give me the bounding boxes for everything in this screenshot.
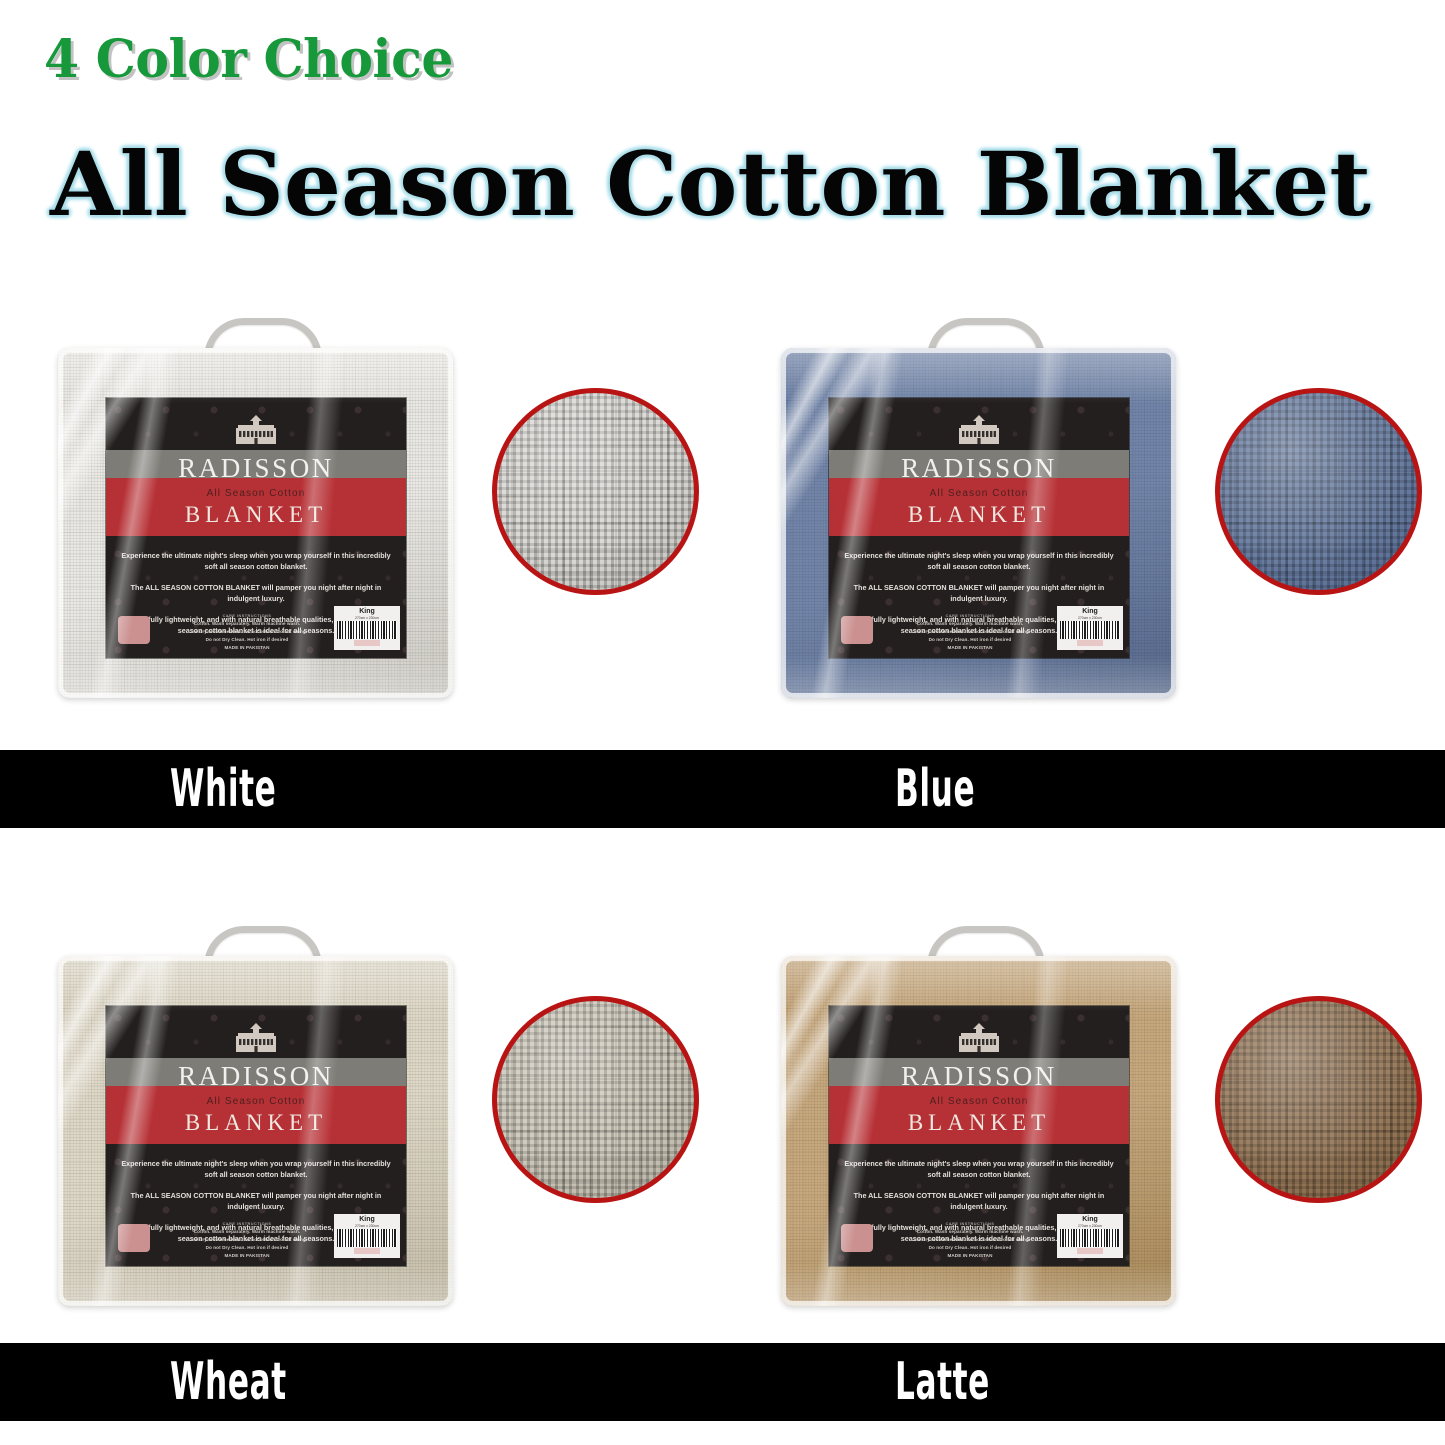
care-line: Line dry recommended. Do not bleach Do n… xyxy=(166,1236,328,1244)
label-subline: All Season Cotton xyxy=(106,1096,406,1107)
size-color-chip xyxy=(354,640,380,646)
hotel-crest-icon xyxy=(949,1022,1009,1054)
size-color-chip xyxy=(354,1248,380,1254)
care-line: Cotton. Wash separately. Warm machine wa… xyxy=(166,620,328,628)
package-white[interactable]: RADISSON All Season Cotton BLANKET Exper… xyxy=(58,318,453,698)
care-instructions: CARE INSTRUCTIONS Cotton. Wash separatel… xyxy=(889,613,1051,652)
product-word: BLANKET xyxy=(106,1110,406,1136)
color-chip xyxy=(841,1224,873,1252)
care-line: Do not Dry Clean. Hot iron if desired xyxy=(889,636,1051,644)
label-subline: All Season Cotton xyxy=(829,488,1129,499)
care-title: CARE INSTRUCTIONS xyxy=(166,613,328,620)
swatch-sheen xyxy=(1220,393,1417,590)
barcode-icon xyxy=(1060,621,1120,639)
label-copy-line: Experience the ultimate night's sleep wh… xyxy=(120,550,392,573)
caption-bar-row2: Wheat Latte xyxy=(0,1343,1445,1421)
label-subline: All Season Cotton xyxy=(829,1096,1129,1107)
swatch-sheen xyxy=(1220,1001,1417,1198)
product-label-card: RADISSON All Season Cotton BLANKET Exper… xyxy=(829,1006,1129,1266)
size-name: King xyxy=(1060,608,1120,616)
barcode-icon xyxy=(337,1229,397,1247)
hotel-crest-icon xyxy=(949,414,1009,446)
package-latte[interactable]: RADISSON All Season Cotton BLANKET Exper… xyxy=(781,926,1176,1306)
product-grid: RADISSON All Season Cotton BLANKET Exper… xyxy=(0,280,1445,1445)
care-line: MADE IN PAKISTAN xyxy=(166,644,328,652)
barcode-icon xyxy=(1060,1229,1120,1247)
fabric-swatch-wheat[interactable] xyxy=(492,996,699,1203)
care-instructions: CARE INSTRUCTIONS Cotton. Wash separatel… xyxy=(889,1221,1051,1260)
page-title: All Season Cotton Blanket xyxy=(50,140,1371,228)
package-blue[interactable]: RADISSON All Season Cotton BLANKET Exper… xyxy=(781,318,1176,698)
hotel-crest-icon xyxy=(226,414,286,446)
size-name: King xyxy=(337,608,397,616)
product-label-card: RADISSON All Season Cotton BLANKET Exper… xyxy=(106,1006,406,1266)
size-dims: 270cm x 230cm xyxy=(1060,1224,1120,1228)
brand-name: RADISSON xyxy=(829,450,1129,486)
size-badge: King 270cm x 230cm xyxy=(334,1214,400,1258)
label-copy-line: Experience the ultimate night's sleep wh… xyxy=(843,550,1115,573)
label-subline: All Season Cotton xyxy=(106,488,406,499)
product-cell-blue[interactable]: RADISSON All Season Cotton BLANKET Exper… xyxy=(723,280,1445,735)
caption-white: White xyxy=(170,750,276,828)
size-name: King xyxy=(1060,1216,1120,1224)
care-line: Line dry recommended. Do not bleach Do n… xyxy=(889,628,1051,636)
caption-latte: Latte xyxy=(895,1343,990,1421)
hotel-crest-icon xyxy=(226,1022,286,1054)
package-bag: RADISSON All Season Cotton BLANKET Exper… xyxy=(58,348,453,698)
product-cell-white[interactable]: RADISSON All Season Cotton BLANKET Exper… xyxy=(0,280,722,735)
care-line: Cotton. Wash separately. Warm machine wa… xyxy=(889,1228,1051,1236)
product-cell-latte[interactable]: RADISSON All Season Cotton BLANKET Exper… xyxy=(723,888,1445,1343)
kicker-text: 4 Color Choice xyxy=(44,29,453,90)
headline-section: 4 Color Choice All Season Cotton Blanket xyxy=(0,0,1445,280)
size-color-chip xyxy=(1077,640,1103,646)
fabric-swatch-latte[interactable] xyxy=(1215,996,1422,1203)
fabric-swatch-white[interactable] xyxy=(492,388,699,595)
color-chip xyxy=(118,616,150,644)
swatch-sheen xyxy=(497,393,694,590)
care-line: MADE IN PAKISTAN xyxy=(889,1252,1051,1260)
swatch-sheen xyxy=(497,1001,694,1198)
package-bag: RADISSON All Season Cotton BLANKET Exper… xyxy=(58,956,453,1306)
care-line: Do not Dry Clean. Hot iron if desired xyxy=(889,1244,1051,1252)
product-label-card: RADISSON All Season Cotton BLANKET Exper… xyxy=(106,398,406,658)
care-title: CARE INSTRUCTIONS xyxy=(889,613,1051,620)
brand-name: RADISSON xyxy=(106,450,406,486)
size-dims: 270cm x 230cm xyxy=(1060,616,1120,620)
product-word: BLANKET xyxy=(829,1110,1129,1136)
package-wheat[interactable]: RADISSON All Season Cotton BLANKET Exper… xyxy=(58,926,453,1306)
label-copy-line: The ALL SEASON COTTON BLANKET will pampe… xyxy=(120,582,392,605)
size-color-chip xyxy=(1077,1248,1103,1254)
caption-bar-row1: White Blue xyxy=(0,750,1445,828)
care-line: MADE IN PAKISTAN xyxy=(889,644,1051,652)
fabric-swatch-blue[interactable] xyxy=(1215,388,1422,595)
caption-blue: Blue xyxy=(895,750,975,828)
care-title: CARE INSTRUCTIONS xyxy=(166,1221,328,1228)
care-instructions: CARE INSTRUCTIONS Cotton. Wash separatel… xyxy=(166,1221,328,1260)
size-dims: 270cm x 230cm xyxy=(337,616,397,620)
caption-wheat: Wheat xyxy=(170,1343,287,1421)
product-word: BLANKET xyxy=(106,502,406,528)
size-dims: 270cm x 230cm xyxy=(337,1224,397,1228)
brand-name: RADISSON xyxy=(106,1058,406,1094)
care-line: Cotton. Wash separately. Warm machine wa… xyxy=(166,1228,328,1236)
product-cell-wheat[interactable]: RADISSON All Season Cotton BLANKET Exper… xyxy=(0,888,722,1343)
barcode-icon xyxy=(337,621,397,639)
color-chip xyxy=(118,1224,150,1252)
care-line: Do not Dry Clean. Hot iron if desired xyxy=(166,636,328,644)
color-chip xyxy=(841,616,873,644)
care-line: Cotton. Wash separately. Warm machine wa… xyxy=(889,620,1051,628)
care-title: CARE INSTRUCTIONS xyxy=(889,1221,1051,1228)
label-copy-line: Experience the ultimate night's sleep wh… xyxy=(843,1158,1115,1181)
product-word: BLANKET xyxy=(829,502,1129,528)
size-name: King xyxy=(337,1216,397,1224)
size-badge: King 270cm x 230cm xyxy=(1057,1214,1123,1258)
product-label-card: RADISSON All Season Cotton BLANKET Exper… xyxy=(829,398,1129,658)
label-copy-line: The ALL SEASON COTTON BLANKET will pampe… xyxy=(120,1190,392,1213)
care-line: Line dry recommended. Do not bleach Do n… xyxy=(166,628,328,636)
size-badge: King 270cm x 230cm xyxy=(334,606,400,650)
label-copy-line: The ALL SEASON COTTON BLANKET will pampe… xyxy=(843,582,1115,605)
size-badge: King 270cm x 230cm xyxy=(1057,606,1123,650)
brand-name: RADISSON xyxy=(829,1058,1129,1094)
care-line: Line dry recommended. Do not bleach Do n… xyxy=(889,1236,1051,1244)
care-line: MADE IN PAKISTAN xyxy=(166,1252,328,1260)
care-line: Do not Dry Clean. Hot iron if desired xyxy=(166,1244,328,1252)
package-bag: RADISSON All Season Cotton BLANKET Exper… xyxy=(781,348,1176,698)
label-copy-line: The ALL SEASON COTTON BLANKET will pampe… xyxy=(843,1190,1115,1213)
label-copy-line: Experience the ultimate night's sleep wh… xyxy=(120,1158,392,1181)
package-bag: RADISSON All Season Cotton BLANKET Exper… xyxy=(781,956,1176,1306)
care-instructions: CARE INSTRUCTIONS Cotton. Wash separatel… xyxy=(166,613,328,652)
